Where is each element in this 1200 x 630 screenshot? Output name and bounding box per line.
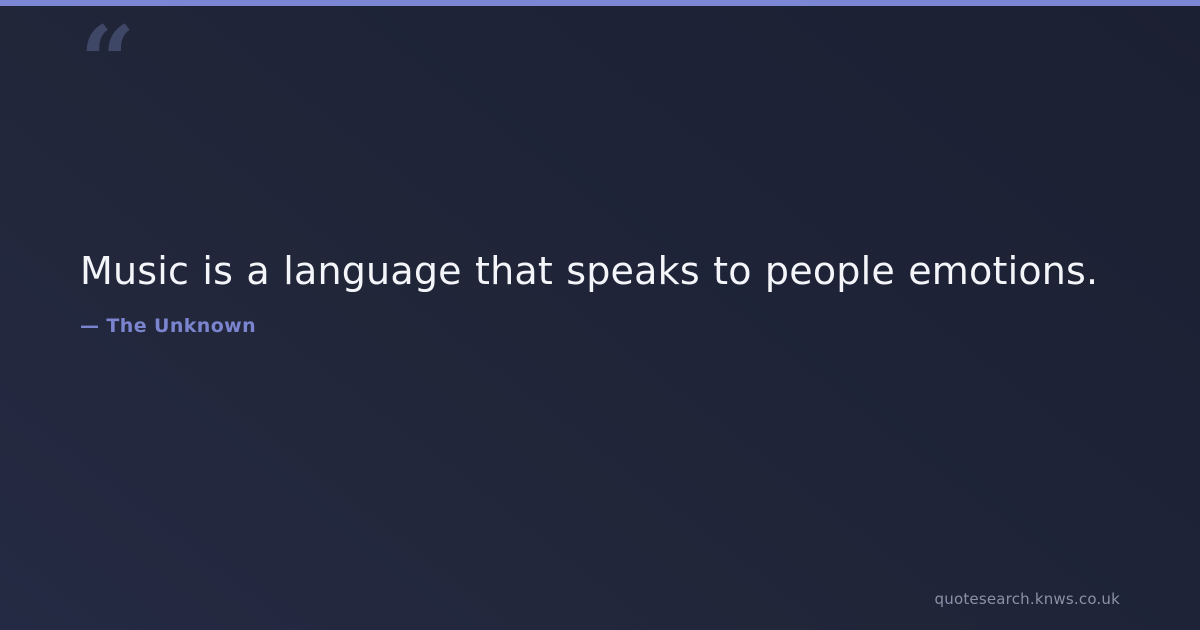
- quote-attribution: —The Unknown: [80, 315, 1120, 337]
- attribution-author: The Unknown: [106, 315, 256, 337]
- site-watermark: quotesearch.knws.co.uk: [935, 590, 1120, 608]
- quote-text: Music is a language that speaks to peopl…: [80, 246, 1120, 297]
- opening-quote-icon: “: [80, 14, 133, 110]
- attribution-dash-icon: —: [80, 315, 99, 337]
- quote-card: “ Music is a language that speaks to peo…: [0, 0, 1200, 630]
- top-accent-bar: [0, 0, 1200, 6]
- quote-content: Music is a language that speaks to peopl…: [80, 246, 1120, 337]
